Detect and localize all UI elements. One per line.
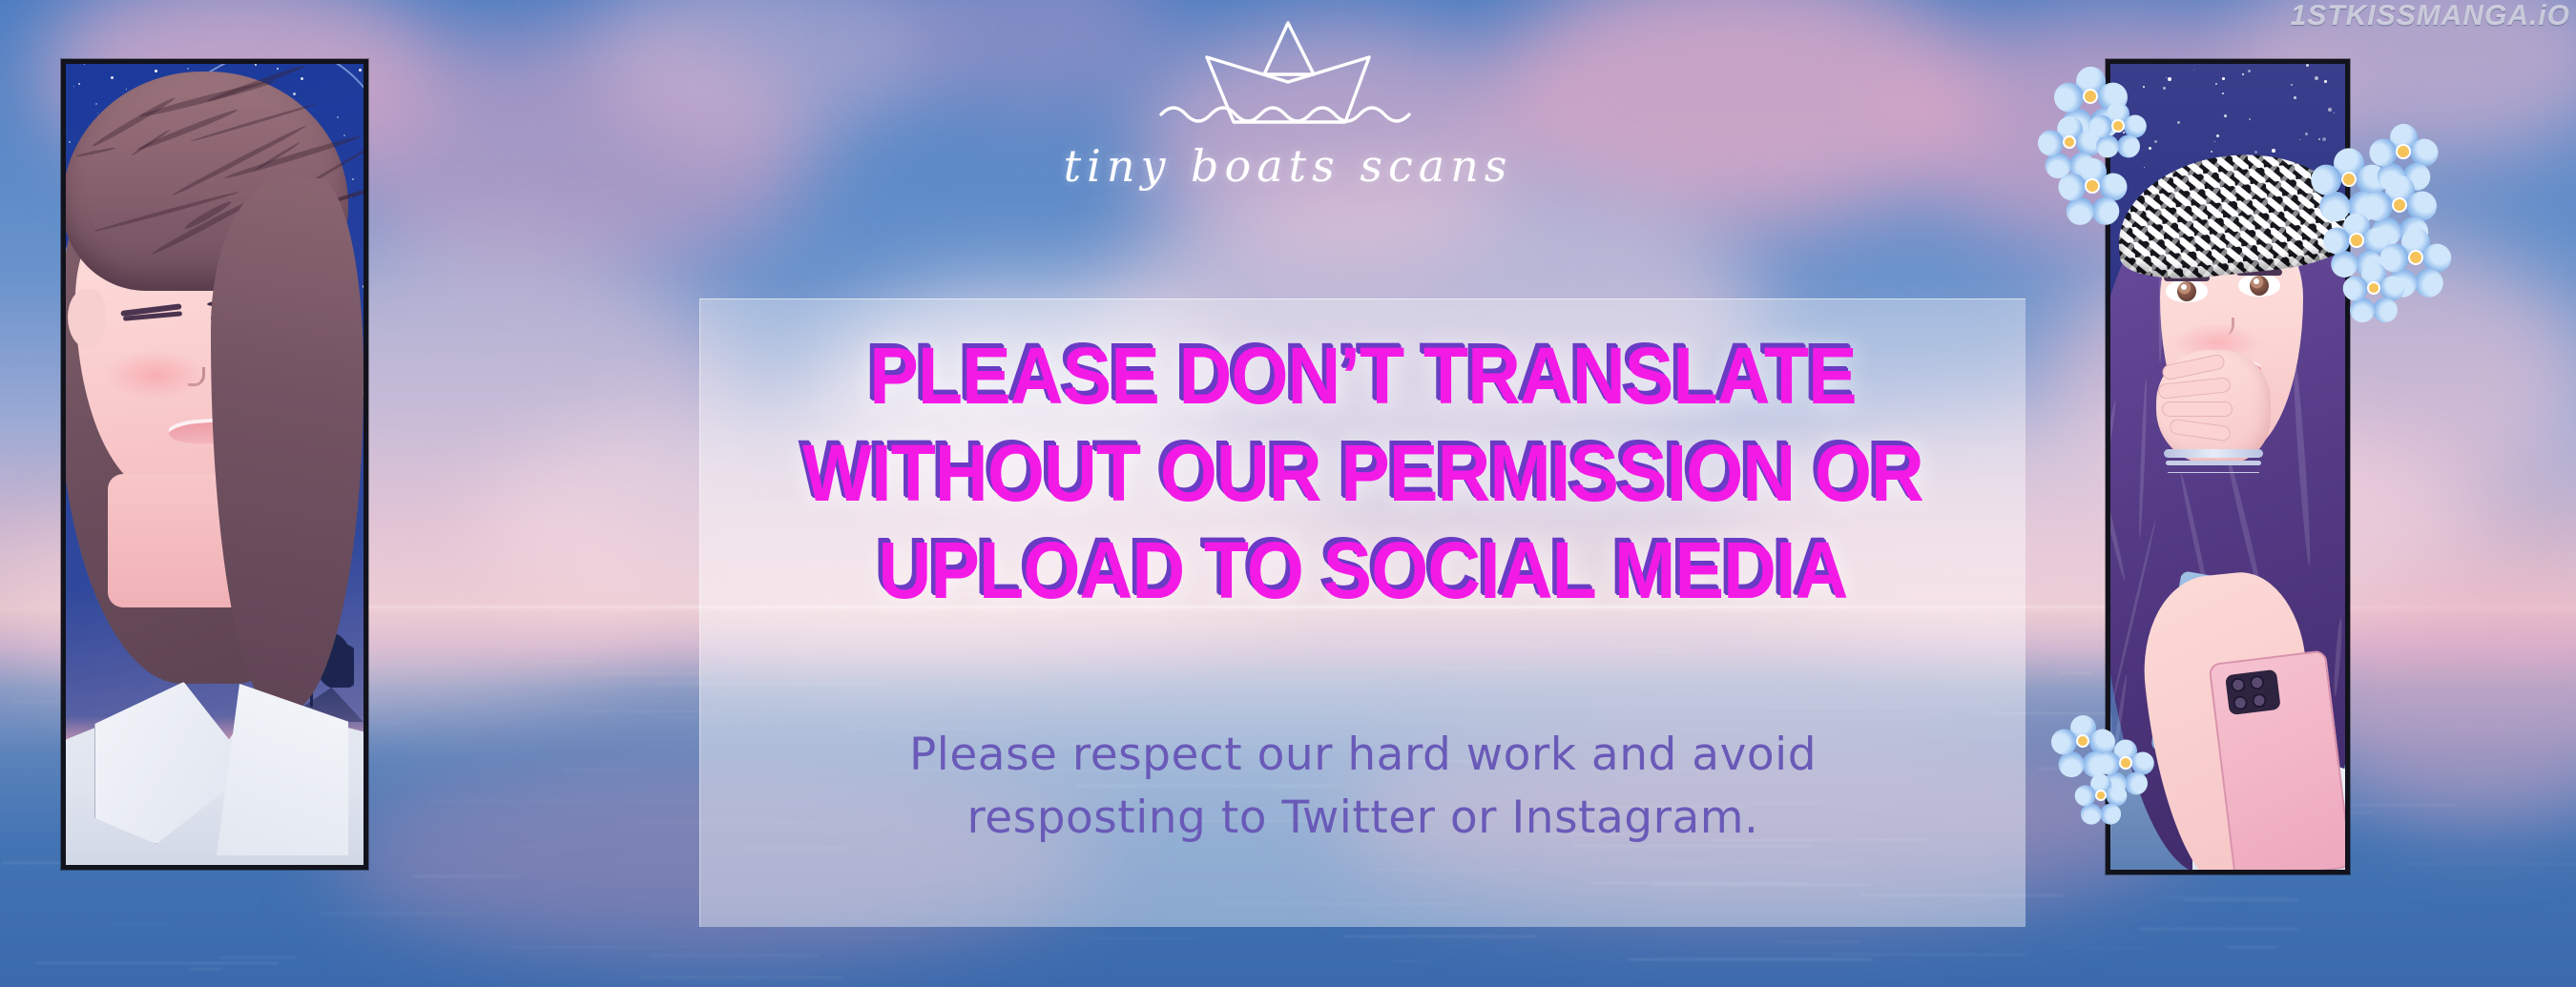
right-girl-hand: [2156, 350, 2271, 464]
right-girl-iris-right: [2250, 276, 2269, 296]
phone-camera-module: [2225, 669, 2281, 715]
subtext-line-1: Please respect our hard work and avoid: [700, 724, 2025, 787]
subtext-line-2: resposting to Twitter or Instagram.: [700, 787, 2025, 850]
left-girl-ear: [68, 289, 106, 348]
houndstooth-beret: [2110, 143, 2350, 285]
headline-line-3: UPLOAD TO SOCIAL MEDIA: [754, 530, 1973, 610]
right-character-panel: [2106, 59, 2350, 874]
headline-line-1: PLEASE DON’T TRANSLATE: [754, 336, 1973, 416]
pink-smartphone: [2208, 649, 2350, 874]
site-watermark: 1STKISSMANGA.iO: [2291, 0, 2570, 32]
notice-headline: PLEASE DON’T TRANSLATE WITHOUT OUR PERMI…: [700, 336, 2025, 627]
left-character-panel: [61, 59, 368, 870]
scanlation-credit-banner: 1STKISSMANGA.iO tiny boats scans: [0, 0, 2576, 987]
right-girl-iris-left: [2177, 281, 2196, 301]
headline-line-2: WITHOUT OUR PERMISSION OR: [754, 433, 1973, 513]
beaded-bracelet: [2164, 449, 2263, 458]
notice-overlay-card: PLEASE DON’T TRANSLATE WITHOUT OUR PERMI…: [699, 298, 2025, 927]
notice-subtext: Please respect our hard work and avoid r…: [700, 724, 2025, 850]
